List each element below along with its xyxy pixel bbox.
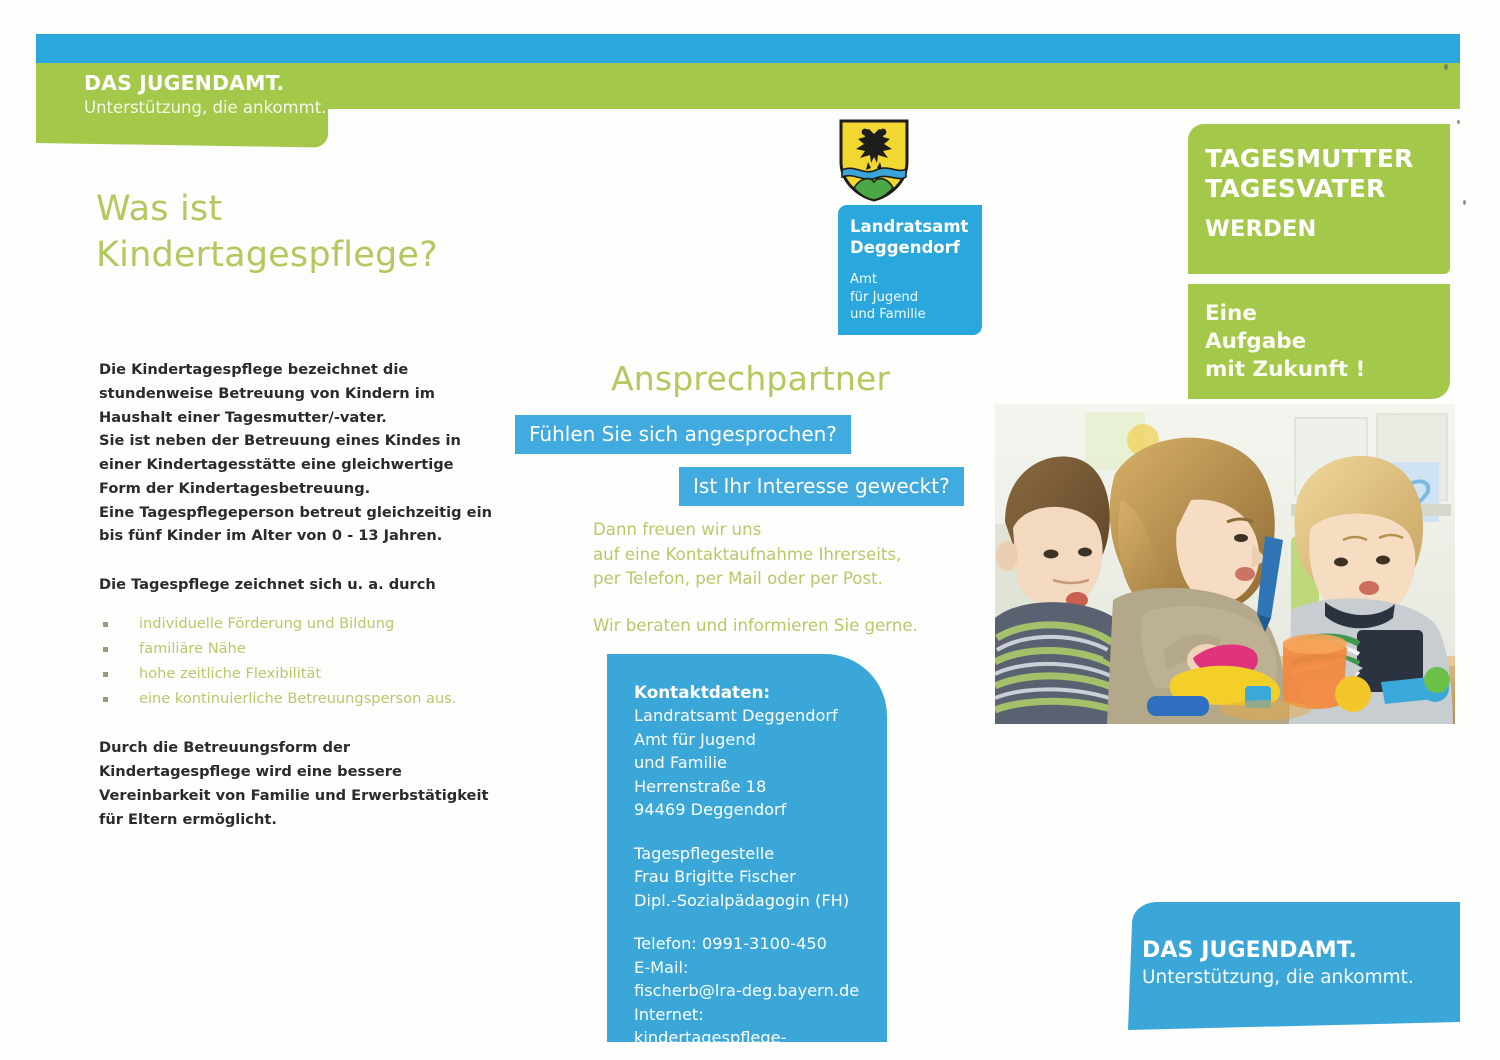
landratsamt-logo: Landratsamt Deggendorf Amt für Jugend un… [838, 205, 982, 335]
list-intro: Die Tagespflege zeichnet sich u. a. durc… [99, 573, 499, 597]
page-title-line1: Was ist [96, 186, 526, 232]
list-item: individuelle Förderung und Bildung [99, 611, 499, 636]
list-item-label: familiäre Nähe [139, 640, 246, 657]
contact-city: 94469 Deggendorf [634, 798, 887, 821]
paragraph-definition: Die Kindertagespflege bezeichnet die stu… [99, 358, 499, 429]
bullet-square-icon [103, 697, 108, 702]
callout-box-aufgabe: Eine Aufgabe mit Zukunft ! [1188, 284, 1450, 399]
bullet-square-icon [103, 622, 108, 627]
scan-artifact-speck [1463, 200, 1466, 205]
list-item-label: eine kontinuierliche Betreuungsperson au… [139, 690, 456, 707]
contact-email[interactable]: fischerb@lra-deg.bayern.de [634, 979, 887, 1002]
header-subtitle: Unterstützung, die ankommt. [84, 97, 384, 118]
invitation-text: Dann freuen wir uns auf eine Kontaktaufn… [593, 518, 993, 638]
bullet-square-icon [103, 647, 108, 652]
contact-person: Frau Brigitte Fischer [634, 865, 887, 888]
contact-org-line2: Amt für Jugend [634, 728, 887, 751]
page-title-line2: Kindertagespflege? [96, 232, 526, 278]
footer-title: DAS JUGENDAMT. [1142, 938, 1414, 964]
header-title: DAS JUGENDAMT. [84, 72, 384, 96]
logo-dept-line1: Amt [850, 271, 982, 288]
highlight-bar-interesse: Ist Ihr Interesse geweckt? [679, 467, 964, 506]
invitation-line1: Dann freuen wir uns [593, 518, 993, 543]
coat-of-arms-icon [838, 118, 910, 202]
contact-qualification: Dipl.-Sozialpädagogin (FH) [634, 889, 887, 912]
contact-org-line1: Landratsamt Deggendorf [634, 704, 887, 727]
list-item: familiäre Nähe [99, 636, 499, 661]
contact-office: Tagespflegestelle [634, 842, 887, 865]
logo-dept-line3: und Familie [850, 306, 982, 323]
callout-line-zukunft: mit Zukunft ! [1205, 356, 1450, 384]
scan-artifact-speck [1444, 64, 1448, 70]
list-item: eine kontinuierliche Betreuungsperson au… [99, 686, 499, 711]
callout-line-tagesvater: TAGESVATER [1205, 174, 1450, 204]
scan-artifact-speck [1457, 120, 1460, 124]
contact-email-label: E-Mail: [634, 956, 887, 979]
callout-line-eine: Eine [1205, 300, 1450, 328]
contact-website[interactable]: kindertagespflege-deggendorf.de [634, 1026, 887, 1060]
contact-street: Herrenstraße 18 [634, 775, 887, 798]
list-item-label: hohe zeitliche Flexibilität [139, 665, 321, 682]
paragraph-closing: Durch die Betreuungsform der Kindertages… [99, 736, 499, 831]
footer-subtitle: Unterstützung, die ankommt. [1142, 966, 1414, 990]
callout-line-tagesmutter: TAGESMUTTER [1205, 144, 1450, 174]
logo-name-line2: Deggendorf [850, 237, 982, 258]
invitation-line3: per Telefon, per Mail oder per Post. [593, 567, 993, 592]
highlight-bar-angesprochen: Fühlen Sie sich angesprochen? [515, 415, 851, 454]
logo-name-line1: Landratsamt [850, 216, 982, 237]
section-title-ansprechpartner: Ansprechpartner [611, 359, 890, 398]
list-item-label: individuelle Förderung und Bildung [139, 615, 394, 632]
bullet-square-icon [103, 672, 108, 677]
logo-dept-line2: für Jugend [850, 289, 982, 306]
feature-list: individuelle Förderung und Bildung famil… [99, 611, 499, 711]
callout-line-werden: WERDEN [1205, 216, 1450, 243]
photo-children-with-caregiver: 2 [995, 404, 1455, 724]
contact-heading: Kontaktdaten: [634, 680, 887, 704]
contact-details-box: Kontaktdaten: Landratsamt Deggendorf Amt… [607, 654, 887, 1042]
contact-org-line3: und Familie [634, 751, 887, 774]
header-branding: DAS JUGENDAMT. Unterstützung, die ankomm… [84, 72, 384, 118]
list-item: hohe zeitliche Flexibilität [99, 661, 499, 686]
callout-box-tagesmutter: TAGESMUTTER TAGESVATER WERDEN [1188, 124, 1450, 274]
footer-branding: DAS JUGENDAMT. Unterstützung, die ankomm… [1142, 938, 1414, 990]
paragraph-capacity: Eine Tagespflegeperson betreut gleichzei… [99, 501, 499, 549]
invitation-line2: auf eine Kontaktaufnahme Ihrerseits, [593, 543, 993, 568]
callout-line-aufgabe: Aufgabe [1205, 328, 1450, 356]
paragraph-equivalence: Sie ist neben der Betreuung eines Kindes… [99, 429, 499, 500]
contact-phone[interactable]: Telefon: 0991-3100-450 [634, 932, 887, 955]
page-title: Was ist Kindertagespflege? [96, 186, 526, 278]
logo-department: Amt für Jugend und Familie [850, 271, 982, 323]
brochure-page: DAS JUGENDAMT. Unterstützung, die ankomm… [0, 0, 1500, 1060]
invitation-line4: Wir beraten und informieren Sie gerne. [593, 614, 993, 639]
contact-internet-label: Internet: [634, 1003, 887, 1026]
top-blue-band [36, 34, 1460, 65]
left-body-column: Die Kindertagespflege bezeichnet die stu… [99, 358, 499, 832]
